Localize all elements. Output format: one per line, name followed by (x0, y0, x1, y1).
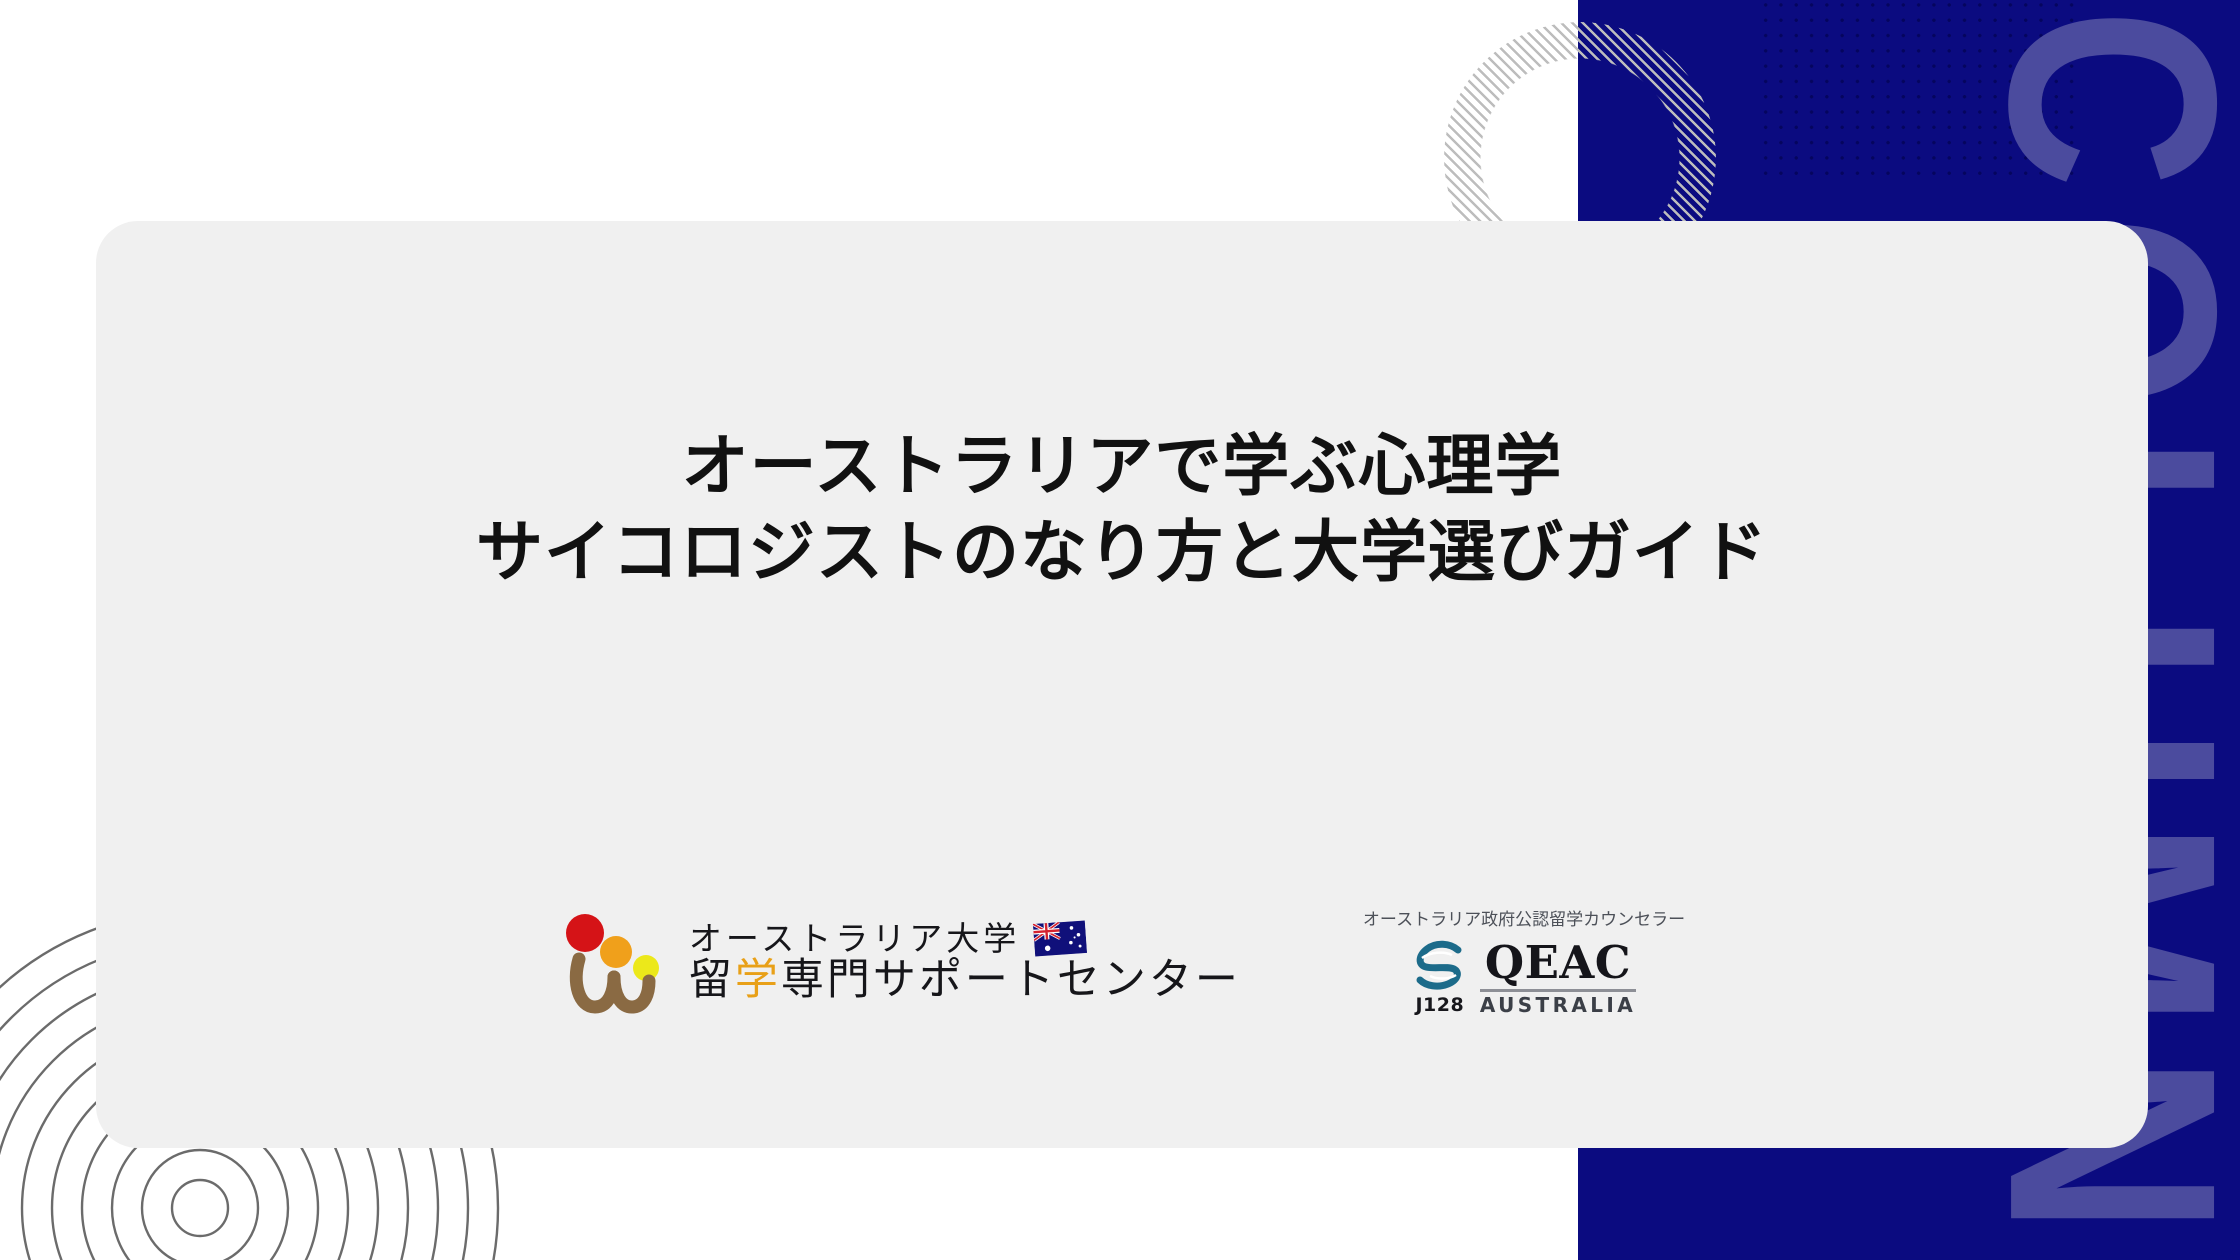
eyecatch-canvas: COLUMN オーストラリアで学ぶ心理学 サイコロジストのなり方と大学選 (0, 0, 2240, 1260)
qeac-logo: オーストラリア政府公認留学カウンセラー J128 QEAC (1363, 912, 1685, 1015)
qeac-country: AUSTRALIA (1480, 995, 1636, 1015)
brand-university-label: オーストラリア大学 (689, 922, 1020, 955)
qeac-divider (1480, 989, 1636, 992)
title-line-1: オーストラリアで学ぶ心理学 (136, 424, 2108, 510)
qeac-right: QEAC AUSTRALIA (1480, 938, 1636, 1015)
qeac-globe-icon (1412, 938, 1468, 994)
brand-line-2-highlight: 学 (735, 955, 781, 1005)
qeac-globe-wrap: J128 (1412, 938, 1468, 1015)
qeac-main: J128 QEAC AUSTRALIA (1412, 938, 1636, 1015)
australia-flag-icon (1033, 921, 1087, 958)
brand-mark-icon (559, 911, 667, 1015)
qeac-caption: オーストラリア政府公認留学カウンセラー (1363, 912, 1685, 929)
content-card: オーストラリアで学ぶ心理学 サイコロジストのなり方と大学選びガイド (96, 221, 2148, 1148)
page-title: オーストラリアで学ぶ心理学 サイコロジストのなり方と大学選びガイド (96, 424, 2148, 596)
brand-line-2-prefix: 留 (689, 955, 735, 1005)
qeac-code: J128 (1415, 996, 1464, 1015)
qeac-wordmark: QEAC (1485, 940, 1631, 985)
brand-logo: オーストラリア大学 (559, 911, 1241, 1015)
title-line-2: サイコロジストのなり方と大学選びガイド (136, 510, 2108, 596)
brand-line-1: オーストラリア大学 (689, 922, 1241, 955)
brand-line-2-suffix: 専門サポートセンター (781, 955, 1241, 1005)
brand-text: オーストラリア大学 (689, 922, 1241, 1003)
logo-row: オーストラリア大学 (96, 911, 2148, 1015)
brand-line-2: 留学専門サポートセンター (689, 957, 1241, 1003)
